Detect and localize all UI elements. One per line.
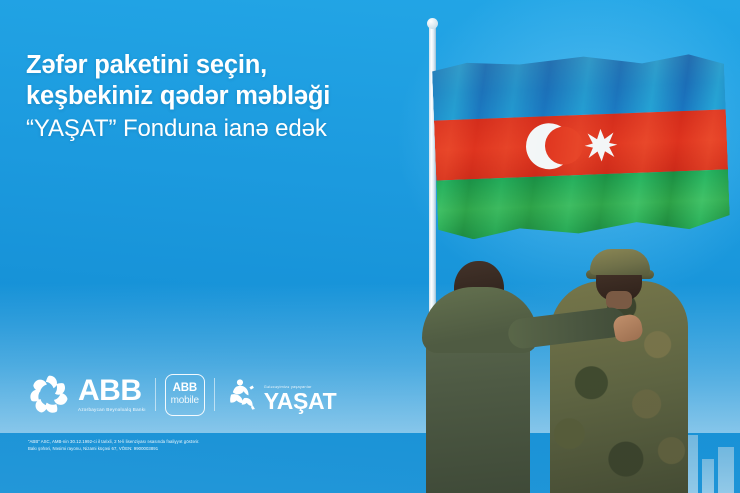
legal-line-2: Bakı şəhəri, Nəsimi rayonu, Nizami küçəs… xyxy=(28,446,328,453)
yasat-soldier-helping-icon xyxy=(224,377,260,411)
abb-wordmark: ABB xyxy=(78,377,146,405)
abb-logo-lockup: ABB Azərbaycan Beynəlxalq Bankı xyxy=(27,372,146,417)
abb-mobile-line-2: mobile xyxy=(171,396,199,406)
logo-divider-2 xyxy=(214,378,215,411)
abb-yasat-promo-banner: Zəfər paketini seçin, keşbekiniz qədər m… xyxy=(0,0,740,493)
soldier-cap xyxy=(590,249,650,275)
yasat-tagline: Gələcəyimizə yaşayanlar xyxy=(264,384,337,389)
abb-pinwheel-icon xyxy=(27,372,72,417)
abb-wordmark-group: ABB Azərbaycan Beynəlxalq Bankı xyxy=(78,377,146,412)
headline: Zəfər paketini seçin, keşbekiniz qədər m… xyxy=(26,50,426,145)
yasat-logo-lockup: Gələcəyimizə yaşayanlar YAŞAT xyxy=(224,377,337,412)
headline-line-2: keşbekiniz qədər məbləği xyxy=(26,81,426,112)
legal-disclaimer: “ABB” ASC, AMB-nin 30.12.1992-ci il tari… xyxy=(28,439,328,452)
soldier-neck xyxy=(606,291,632,309)
abb-mobile-logo: ABB mobile xyxy=(165,374,205,416)
headline-line-1: Zəfər paketini seçin, xyxy=(26,50,426,81)
logo-divider-1 xyxy=(155,378,156,411)
flag-pole-cap xyxy=(427,18,438,29)
yasat-wordmark-group: Gələcəyimizə yaşayanlar YAŞAT xyxy=(264,384,337,412)
headline-line-3: “YAŞAT” Fonduna ianə edək xyxy=(26,112,426,145)
logo-bar: ABB Azərbaycan Beynəlxalq Bankı ABB mobi… xyxy=(27,372,336,417)
two-figures-group xyxy=(400,228,740,493)
abb-mobile-line-1: ABB xyxy=(173,383,197,395)
abb-tagline: Azərbaycan Beynəlxalq Bankı xyxy=(78,407,146,412)
azerbaijan-flag xyxy=(435,55,727,235)
flag-fabric-shading xyxy=(432,49,731,240)
legal-line-1: “ABB” ASC, AMB-nin 30.12.1992-ci il tari… xyxy=(28,439,328,446)
yasat-wordmark: YAŞAT xyxy=(264,390,337,412)
